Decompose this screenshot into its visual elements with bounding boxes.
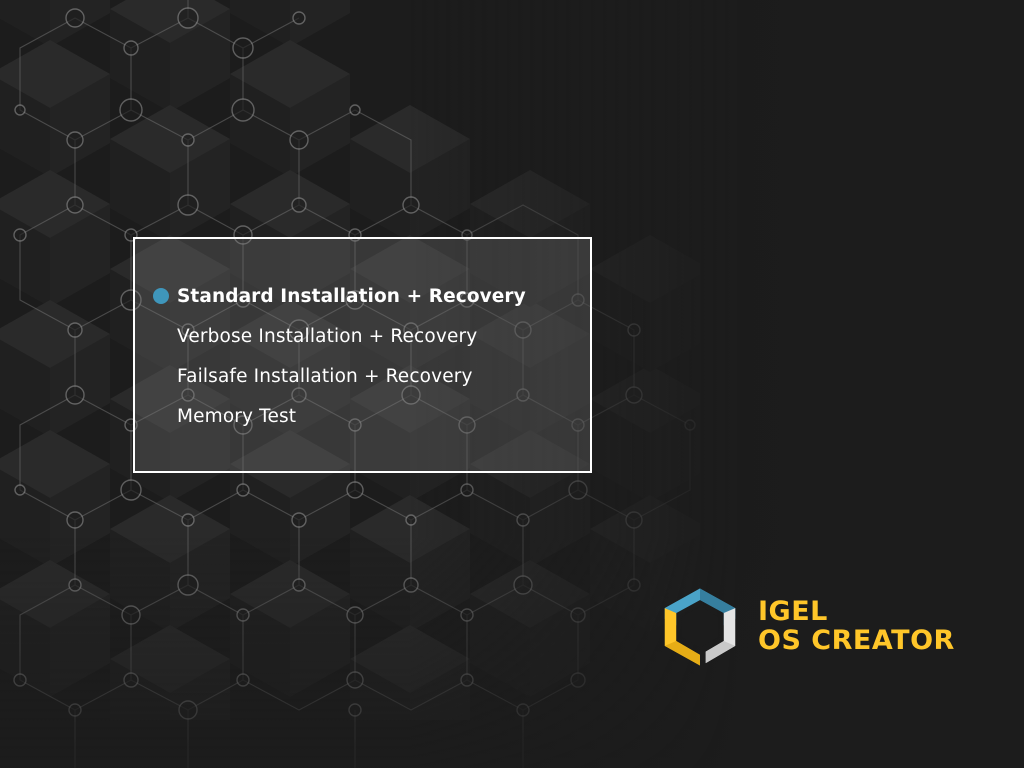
boot-menu-item-verbose-installation[interactable]: Verbose Installation + Recovery [177, 316, 590, 356]
igel-os-creator-logo: IGEL OS CREATOR [659, 584, 969, 670]
boot-menu-item-label: Memory Test [177, 406, 296, 427]
boot-menu-item-standard-installation[interactable]: Standard Installation + Recovery [177, 276, 590, 316]
selection-bullet-icon [153, 288, 169, 304]
logo-wordmark: IGEL OS CREATOR [758, 598, 955, 655]
boot-menu-item-label: Verbose Installation + Recovery [177, 326, 477, 347]
boot-menu-dialog: Standard Installation + Recovery Verbose… [133, 237, 592, 473]
boot-menu-item-label: Failsafe Installation + Recovery [177, 366, 473, 387]
logo-line-igel: IGEL [758, 598, 955, 627]
boot-menu-list: Standard Installation + Recovery Verbose… [135, 239, 590, 471]
boot-menu-item-failsafe-installation[interactable]: Failsafe Installation + Recovery [177, 356, 590, 396]
boot-menu-item-label: Standard Installation + Recovery [177, 286, 526, 307]
boot-screen: Standard Installation + Recovery Verbose… [0, 0, 1024, 768]
boot-menu-item-memory-test[interactable]: Memory Test [177, 396, 590, 436]
logo-line-os-creator: OS CREATOR [758, 627, 955, 656]
igel-hexagon-mark-icon [659, 586, 741, 668]
